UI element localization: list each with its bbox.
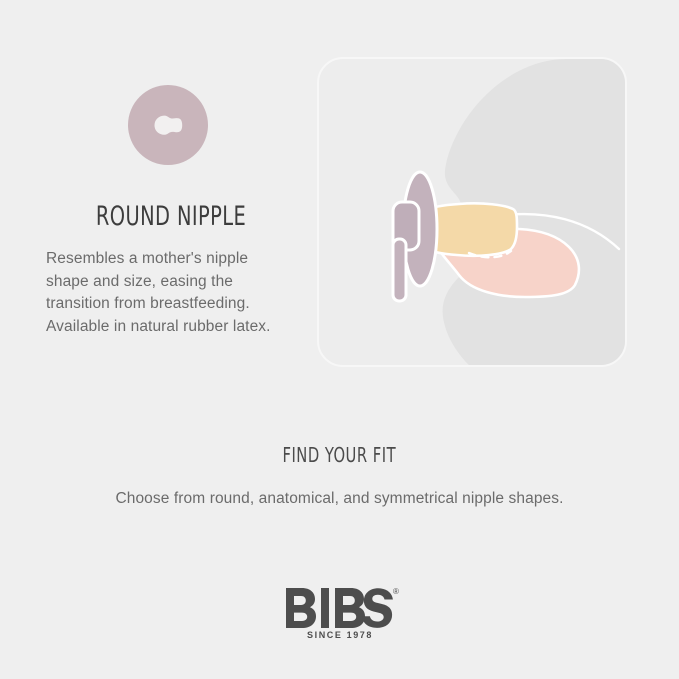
round-nipple-badge — [128, 85, 208, 165]
product-feature-panel: ROUND NIPPLE Resembles a mother's nipple… — [0, 0, 679, 679]
brand-logo: ® SINCE 1978 — [0, 582, 679, 647]
round-nipple-silhouette-icon — [128, 85, 208, 165]
heart-icon — [294, 598, 300, 604]
baby-pacifier-illustration — [319, 59, 625, 365]
find-your-fit-title: FIND YOUR FIT — [283, 443, 397, 467]
logo-tagline: SINCE 1978 — [306, 630, 372, 640]
feature-title: ROUND NIPPLE — [71, 201, 271, 232]
feature-column: ROUND NIPPLE Resembles a mother's nipple… — [46, 85, 296, 339]
bibs-logo-mark: ® SINCE 1978 — [280, 582, 400, 642]
pacifier-handle — [393, 239, 406, 301]
find-your-fit-block: FIND YOUR FIT Choose from round, anatomi… — [0, 443, 679, 508]
illustration-card — [317, 57, 627, 367]
find-your-fit-subtitle: Choose from round, anatomical, and symme… — [0, 490, 679, 508]
feature-description: Resembles a mother's nipple shape and si… — [46, 248, 291, 339]
registered-mark: ® — [393, 587, 399, 596]
